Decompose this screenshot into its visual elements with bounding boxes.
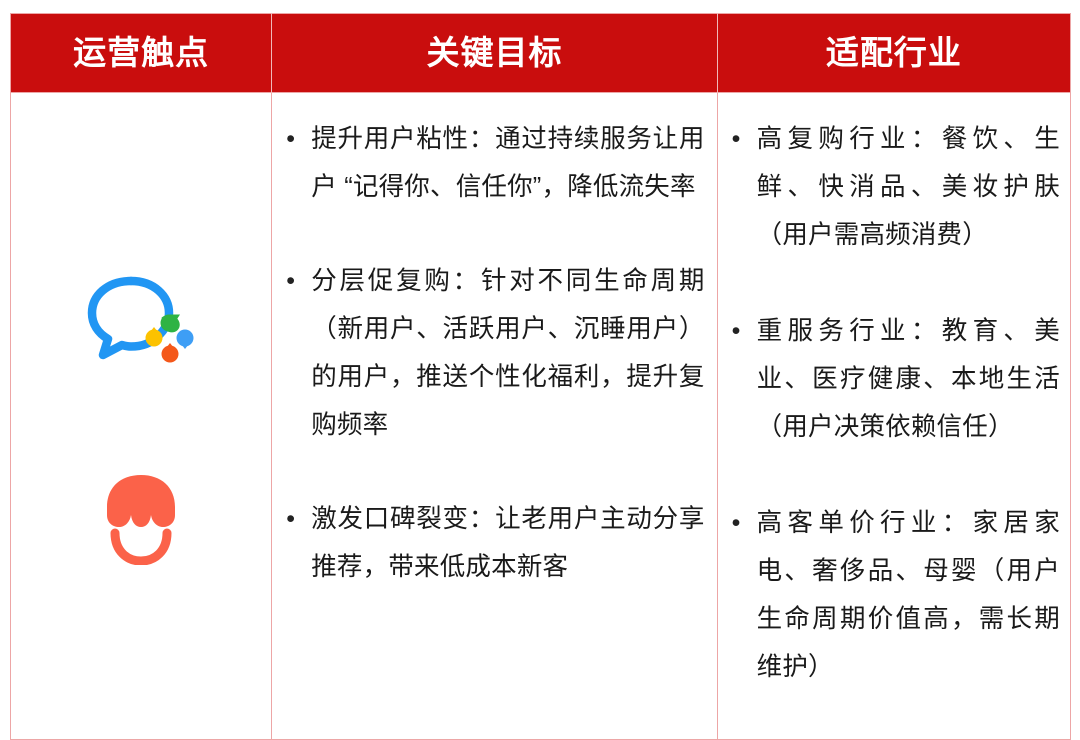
bullet-dot-icon: • [284,495,311,543]
list-item: • 分层促复购：针对不同生命周期（新用户、活跃用户、沉睡用户）的用户，推送个性化… [284,257,704,449]
table-header-cell-key-goal: 关键目标 [272,14,717,93]
industry-list: • 高复购行业：餐饮、生鲜、快消品、美妆护肤（用户需高频消费） • 重服务行业：… [718,93,1070,691]
table-header-cell-touchpoint: 运营触点 [11,14,272,93]
youzan-logo-icon [81,465,201,569]
key-goal-text: 分层促复购：针对不同生命周期（新用户、活跃用户、沉睡用户）的用户，推送个性化福利… [311,257,704,449]
table-header-cell-industry: 适配行业 [717,14,1070,93]
bullet-dot-icon: • [730,115,757,163]
column-header-label: 关键目标 [272,35,716,71]
table-cell-industry: • 高复购行业：餐饮、生鲜、快消品、美妆护肤（用户需高频消费） • 重服务行业：… [717,93,1070,740]
column-header-label: 运营触点 [11,35,271,71]
list-item: • 激发口碑裂变：让老用户主动分享推荐，带来低成本新客 [284,495,704,591]
key-goal-list: • 提升用户粘性：通过持续服务让用户 “记得你、信任你”，降低流失率 • 分层促… [272,93,716,591]
list-item: • 高客单价行业：家居家电、奢侈品、母婴（用户生命周期价值高，需长期维护） [730,499,1060,691]
table-header-row: 运营触点 关键目标 适配行业 [11,14,1071,93]
slide-canvas: 运营触点 关键目标 适配行业 [0,0,1080,620]
wecom-logo-icon [81,269,201,373]
column-header-label: 适配行业 [718,35,1070,71]
industry-text: 重服务行业：教育、美业、医疗健康、本地生活（用户决策依赖信任） [757,307,1060,451]
table-cell-key-goal: • 提升用户粘性：通过持续服务让用户 “记得你、信任你”，降低流失率 • 分层促… [272,93,717,740]
bullet-dot-icon: • [284,115,311,163]
list-item: • 重服务行业：教育、美业、医疗健康、本地生活（用户决策依赖信任） [730,307,1060,451]
table-cell-touchpoint [11,93,272,740]
key-goal-text: 激发口碑裂变：让老用户主动分享推荐，带来低成本新客 [311,495,704,591]
touchpoint-icon-stack [11,93,271,739]
bullet-dot-icon: • [284,257,311,305]
list-item: • 高复购行业：餐饮、生鲜、快消品、美妆护肤（用户需高频消费） [730,115,1060,259]
industry-text: 高复购行业：餐饮、生鲜、快消品、美妆护肤（用户需高频消费） [757,115,1060,259]
key-goal-text: 提升用户粘性：通过持续服务让用户 “记得你、信任你”，降低流失率 [311,115,704,211]
bullet-dot-icon: • [730,499,757,547]
comparison-table: 运营触点 关键目标 适配行业 [10,13,1071,740]
industry-text: 高客单价行业：家居家电、奢侈品、母婴（用户生命周期价值高，需长期维护） [757,499,1060,691]
bullet-dot-icon: • [730,307,757,355]
list-item: • 提升用户粘性：通过持续服务让用户 “记得你、信任你”，降低流失率 [284,115,704,211]
table-body-row: • 提升用户粘性：通过持续服务让用户 “记得你、信任你”，降低流失率 • 分层促… [11,93,1071,740]
